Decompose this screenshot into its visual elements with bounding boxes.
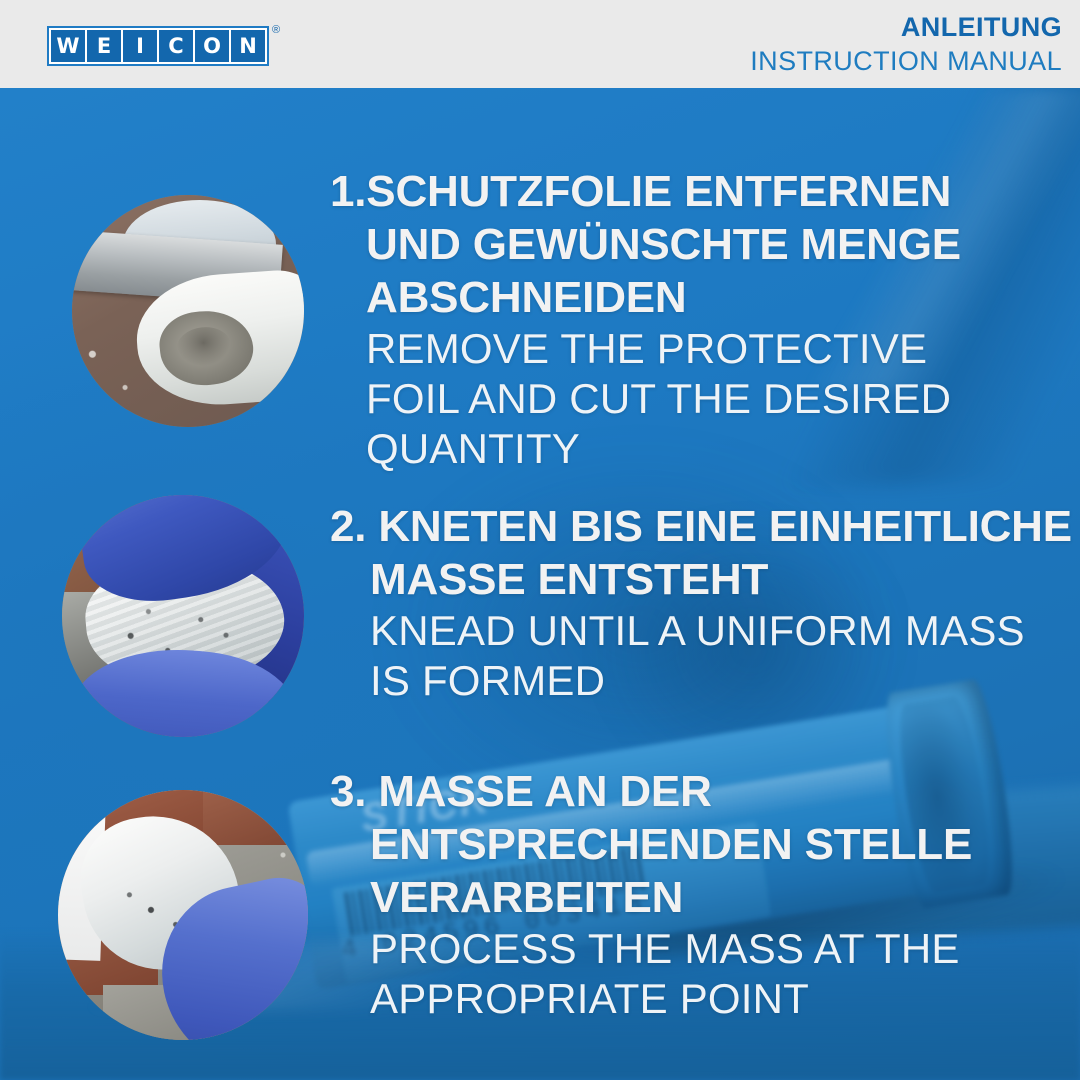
step-1-text: 1.SCHUTZFOLIE ENTFERNEN UND GEWÜNSCHTE M…	[330, 165, 1030, 474]
step-1-image	[72, 195, 304, 427]
logo-letter-n: N	[231, 30, 265, 62]
photo3-brick-right	[203, 790, 308, 845]
step-3-text: 3. MASSE AN DER ENTSPRECHENDEN STELLE VE…	[330, 765, 1030, 1024]
step-1-en-line-2: FOIL AND CUT THE DESIRED	[330, 374, 1030, 424]
logo-letter-boxes: W E I C O N	[47, 26, 269, 66]
header-title-block: ANLEITUNG INSTRUCTION MANUAL	[750, 14, 1062, 75]
step-3-de-line-1: 3. MASSE AN DER	[330, 765, 1030, 818]
logo-letter-i: I	[123, 30, 159, 62]
step-2-image	[62, 495, 304, 737]
step-1-de-line-2: UND GEWÜNSCHTE MENGE	[330, 218, 1030, 271]
step-1-en-line-3: QUANTITY	[330, 424, 1030, 474]
step-3-image	[58, 790, 308, 1040]
step-2-de-line-2: MASSE ENTSTEHT	[330, 553, 1030, 606]
logo-letter-c: C	[159, 30, 195, 62]
step-1-de-line-3: ABSCHNEIDEN	[330, 271, 1030, 324]
weicon-logo[interactable]: W E I C O N ®	[47, 26, 280, 66]
step-2-text: 2. KNETEN BIS EINE EINHEITLICHE MASSE EN…	[330, 500, 1030, 706]
step-2-en-line-2: IS FORMED	[330, 656, 1030, 706]
registered-trademark-icon: ®	[272, 24, 280, 36]
step-1-photo	[72, 195, 304, 427]
header-title-de: ANLEITUNG	[750, 14, 1062, 41]
page-header: W E I C O N ® ANLEITUNG INSTRUCTION MANU…	[0, 0, 1080, 88]
step-2-photo	[62, 495, 304, 737]
header-title-en: INSTRUCTION MANUAL	[750, 48, 1062, 75]
steps-container: 1.SCHUTZFOLIE ENTFERNEN UND GEWÜNSCHTE M…	[0, 0, 1080, 1080]
logo-letter-e: E	[87, 30, 123, 62]
step-2-en-line-1: KNEAD UNTIL A UNIFORM MASS	[330, 606, 1030, 656]
logo-letter-w: W	[51, 30, 87, 62]
step-3-en-line-2: APPROPRIATE POINT	[330, 974, 1030, 1024]
logo-letter-o: O	[195, 30, 231, 62]
instruction-manual-page: STICK 4 024596 003418 W E I C O N ® ANLE…	[0, 0, 1080, 1080]
step-3-de-line-3: VERARBEITEN	[330, 871, 1030, 924]
step-2-de-line-1: 2. KNETEN BIS EINE EINHEITLICHE	[330, 500, 1030, 553]
step-3-de-line-2: ENTSPRECHENDEN STELLE	[330, 818, 1030, 871]
step-1-de-line-1: 1.SCHUTZFOLIE ENTFERNEN	[330, 165, 1030, 218]
step-3-en-line-1: PROCESS THE MASS AT THE	[330, 924, 1030, 974]
step-1-en-line-1: REMOVE THE PROTECTIVE	[330, 324, 1030, 374]
step-3-photo	[58, 790, 308, 1040]
